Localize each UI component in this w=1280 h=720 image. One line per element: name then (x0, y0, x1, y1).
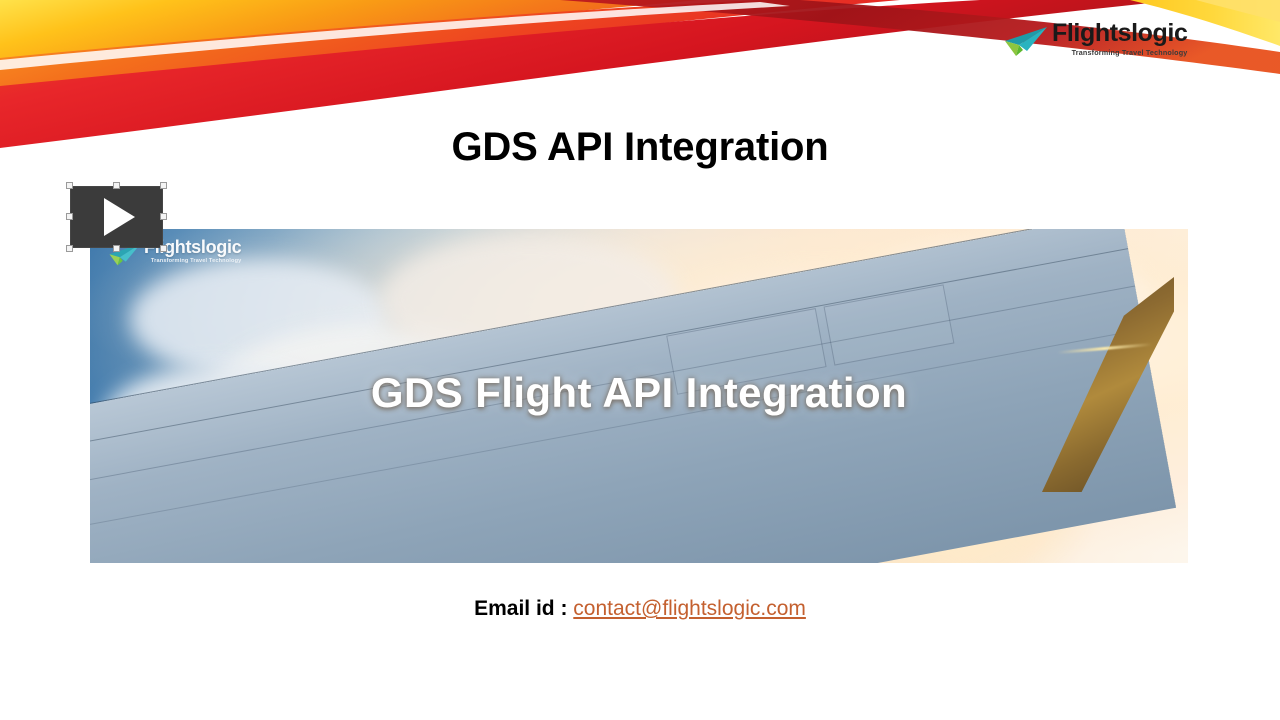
brand-logo: Flightslogic Transforming Travel Technol… (1003, 20, 1183, 64)
video-headline: GDS Flight API Integration (90, 369, 1188, 417)
selection-handle-middle-left[interactable] (66, 213, 73, 220)
page-title: GDS API Integration (0, 123, 1280, 171)
selection-handle-bottom-left[interactable] (66, 245, 73, 252)
selection-handle-middle-right[interactable] (160, 213, 167, 220)
email-label: Email id : (474, 597, 567, 620)
brand-tagline: Transforming Travel Technology (1072, 48, 1188, 58)
selection-handle-top-middle[interactable] (113, 182, 120, 189)
play-icon (104, 198, 135, 236)
selection-handle-top-right[interactable] (160, 182, 167, 189)
email-line: Email id : contact@flightslogic.com (0, 594, 1280, 624)
watermark-tagline: Transforming Travel Technology (151, 257, 242, 265)
wing-panel (824, 284, 955, 365)
embedded-video-thumbnail[interactable]: GDS Flight API Integration Flightslogic … (90, 229, 1188, 563)
email-link[interactable]: contact@flightslogic.com (573, 597, 806, 620)
brand-name: Flightslogic (1052, 20, 1187, 47)
play-button[interactable] (70, 186, 163, 248)
selection-handle-top-left[interactable] (66, 182, 73, 189)
selection-handle-bottom-middle[interactable] (113, 245, 120, 252)
video-play-control[interactable] (66, 182, 167, 252)
selection-handle-bottom-right[interactable] (160, 245, 167, 252)
paper-plane-icon (1003, 25, 1049, 59)
